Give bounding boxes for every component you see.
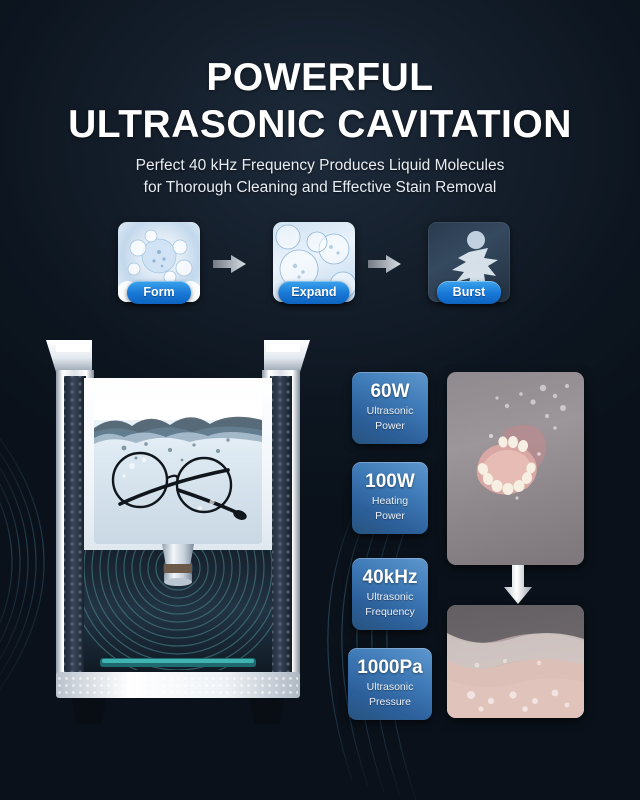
product-infographic: POWERFUL ULTRASONIC CAVITATION Perfect 4…: [0, 0, 640, 800]
spec-label-line1: Ultrasonic: [352, 681, 428, 694]
spec-card-ultrasonic-pressure[interactable]: 1000Pa Ultrasonic Pressure: [348, 648, 432, 720]
stage-label-burst[interactable]: Burst: [437, 281, 501, 304]
spec-label-line2: Pressure: [352, 696, 428, 709]
spec-label-line2: Power: [356, 510, 424, 523]
dentures-closeup-photo: [447, 605, 584, 718]
page-subtitle: Perfect 40 kHz Frequency Produces Liquid…: [0, 155, 640, 199]
subtitle-line-1: Perfect 40 kHz Frequency Produces Liquid…: [136, 157, 505, 174]
spec-value: 1000Pa: [352, 657, 428, 679]
spec-label-line1: Ultrasonic: [356, 405, 424, 418]
spec-card-heating-power[interactable]: 100W Heating Power: [352, 462, 428, 534]
spec-label-line1: Ultrasonic: [356, 591, 424, 604]
spec-card-ultrasonic-frequency[interactable]: 40kHz Ultrasonic Frequency: [352, 558, 428, 630]
spec-card-ultrasonic-power[interactable]: 60W Ultrasonic Power: [352, 372, 428, 444]
ultrasonic-cleaner-cutaway: [28, 332, 328, 737]
arrow-right-icon: [213, 254, 247, 274]
headline-line-1: POWERFUL: [206, 56, 433, 99]
spec-label-line2: Power: [356, 420, 424, 433]
spec-value: 60W: [356, 381, 424, 403]
spec-label-line1: Heating: [356, 495, 424, 508]
stage-expand: Expand: [273, 222, 355, 302]
arrow-right-icon: [368, 254, 402, 274]
page-title: POWERFUL ULTRASONIC CAVITATION: [0, 54, 640, 148]
stage-burst: Burst: [428, 222, 510, 302]
stage-form: Form: [118, 222, 200, 302]
headline-line-2: ULTRASONIC CAVITATION: [0, 101, 640, 148]
arrow-down-icon: [501, 565, 535, 605]
spec-value: 40kHz: [356, 567, 424, 589]
dentures-in-water-photo: [447, 372, 584, 565]
cavitation-stage-row: Form Expand: [0, 222, 640, 312]
stage-label-form[interactable]: Form: [127, 281, 191, 304]
spec-label-line2: Frequency: [356, 606, 424, 619]
spec-value: 100W: [356, 471, 424, 493]
stage-label-expand[interactable]: Expand: [278, 281, 349, 304]
subtitle-line-2: for Thorough Cleaning and Effective Stai…: [144, 179, 497, 196]
